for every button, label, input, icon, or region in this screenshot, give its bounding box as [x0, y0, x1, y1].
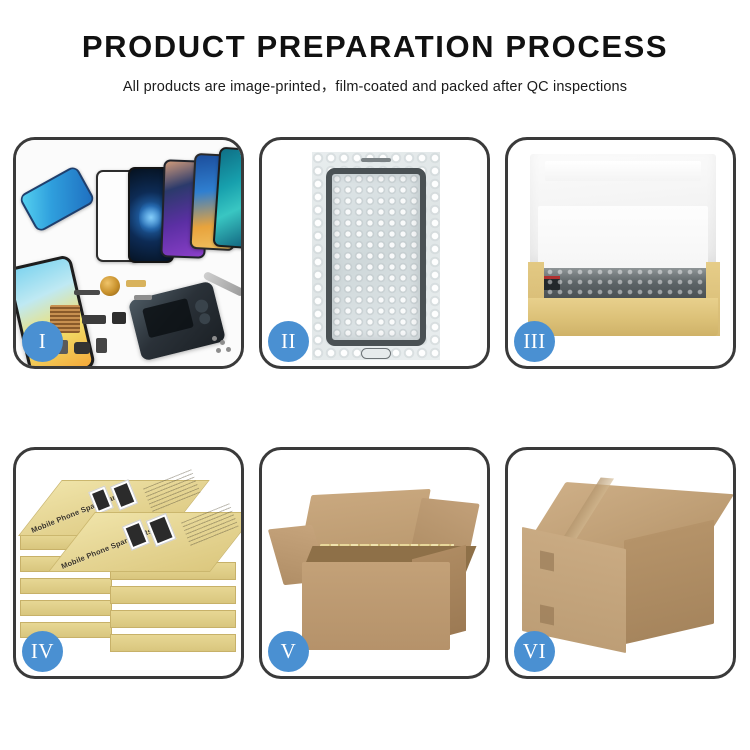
- carton-handle-notch: [540, 605, 554, 626]
- process-steps-grid: I II: [13, 137, 737, 679]
- product-preparation-page: PRODUCT PREPARATION PROCESS All products…: [0, 0, 750, 750]
- open-carton-icon: [272, 474, 480, 660]
- box-front-wall-icon: [528, 298, 718, 336]
- step-panel-1: I: [13, 137, 244, 369]
- step-badge-4: IV: [22, 631, 63, 672]
- step-panel-6: VI: [505, 447, 736, 679]
- camera-module-icon: [82, 315, 106, 324]
- step-badge-1: I: [22, 321, 63, 362]
- box-edge: [110, 610, 236, 628]
- wrapped-screen-icon: [326, 168, 426, 346]
- sealed-carton-icon: [522, 472, 722, 662]
- small-component-icon: [112, 312, 126, 324]
- box-edge: [20, 578, 112, 594]
- box-edge: [110, 634, 236, 652]
- screws-icon: [212, 336, 217, 341]
- connector-chip-icon: [544, 276, 560, 290]
- step-panel-3: III: [505, 137, 736, 369]
- carton-handle-notch: [540, 551, 554, 572]
- carton-side-panel: [624, 520, 714, 645]
- home-button-icon: [361, 348, 391, 359]
- foam-lining-icon: [538, 206, 708, 274]
- speaker-coil-icon: [100, 276, 120, 296]
- box-edge: [20, 600, 112, 616]
- flex-cable-icon: [74, 290, 100, 295]
- earpiece-icon: [361, 158, 391, 162]
- step-badge-2: II: [268, 321, 309, 362]
- small-component-icon: [96, 338, 107, 353]
- bubble-wrap-background: [312, 152, 440, 360]
- step-badge-6: VI: [514, 631, 555, 672]
- box-edge: [110, 586, 236, 604]
- open-kraft-box-icon: [526, 148, 720, 358]
- step-panel-4: Mobile Phone Spare Parts Mobile Phone Sp…: [13, 447, 244, 679]
- step-panel-2: II: [259, 137, 490, 369]
- page-header: PRODUCT PREPARATION PROCESS All products…: [0, 0, 750, 96]
- flex-cable-icon: [126, 280, 146, 287]
- flex-cable-icon: [134, 295, 152, 300]
- page-title: PRODUCT PREPARATION PROCESS: [0, 30, 750, 64]
- step-badge-5: V: [268, 631, 309, 672]
- carton-front-panel: [302, 562, 450, 650]
- step-badge-3: III: [514, 321, 555, 362]
- small-component-icon: [74, 342, 90, 354]
- page-subtitle: All products are image-printed，film-coat…: [0, 75, 750, 96]
- step-panel-5: V: [259, 447, 490, 679]
